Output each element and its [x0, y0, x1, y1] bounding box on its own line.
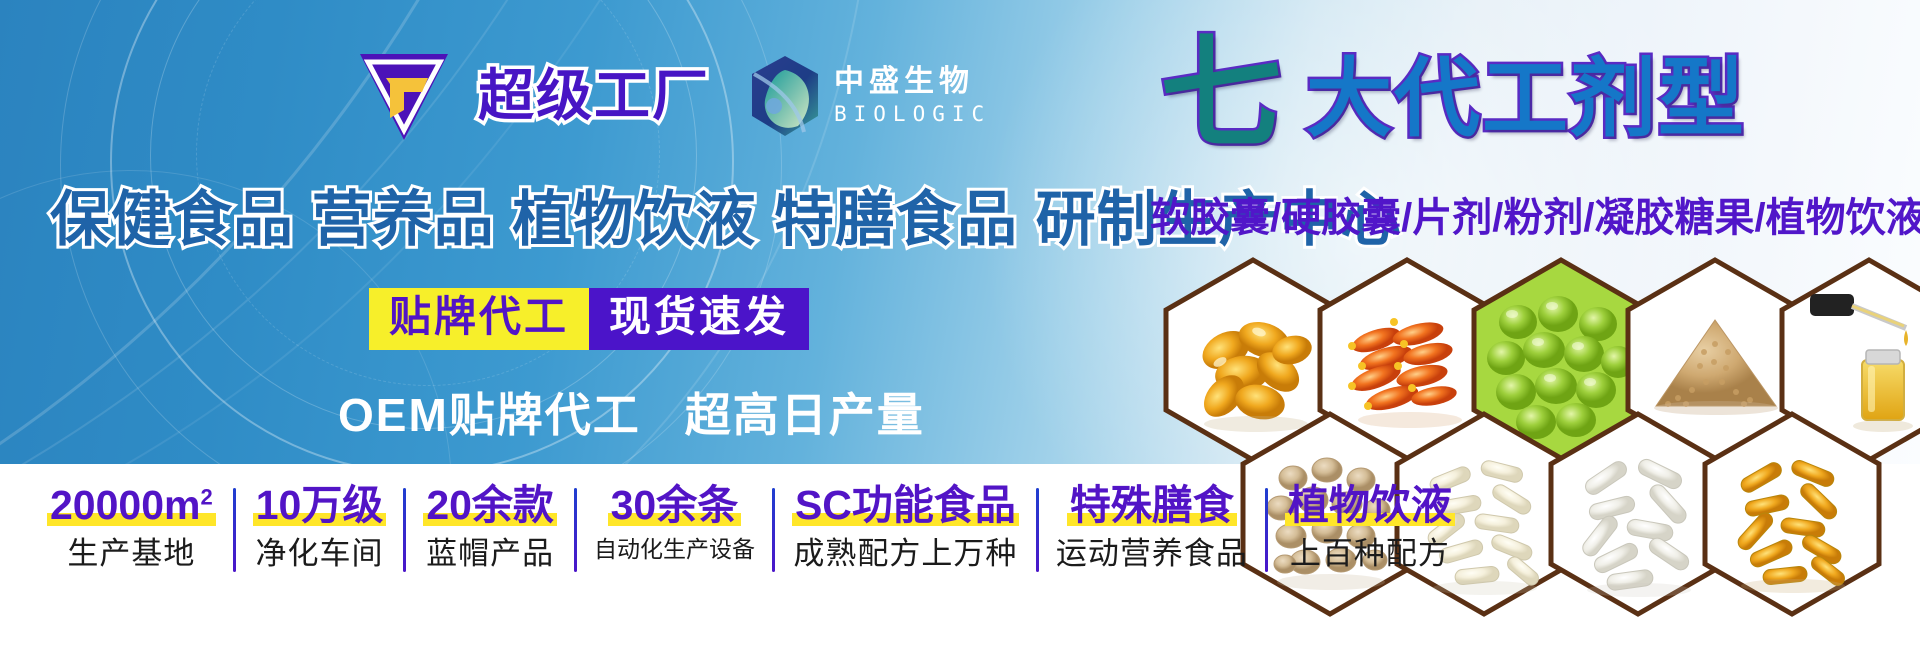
- dosage-forms-count: 七: [1160, 38, 1282, 150]
- stat-number: 10万级: [256, 482, 384, 528]
- stat-item: 10万级 净化车间: [236, 484, 404, 569]
- dosage-forms-list: 软胶囊/硬胶囊/片剂/粉剂/凝胶糖果/植物饮液/爆珠: [1150, 198, 1920, 238]
- stat-number: 特殊膳食: [1070, 482, 1234, 528]
- stat-label: 上百种配方: [1290, 538, 1450, 569]
- stat-number: SC功能食品: [795, 482, 1016, 528]
- stat-label: 蓝帽产品: [426, 538, 554, 569]
- stat-label: 生产基地: [67, 538, 195, 569]
- badge-group: 贴牌代工 现货速发: [369, 288, 809, 350]
- promo-banner: 超级工厂: [0, 0, 1920, 650]
- stat-label: 成熟配方上万种: [793, 538, 1017, 569]
- company-logo: 中盛生物 BIOLOGIC: [746, 54, 991, 138]
- stat-item: 30余条 自动化生产设备: [577, 484, 772, 561]
- super-factory-text: 超级工厂: [478, 68, 710, 124]
- zhongsheng-biologic-mark-icon: [746, 54, 824, 138]
- stat-number: 30余条: [611, 482, 739, 528]
- stat-item: 植物饮液 上百种配方: [1268, 484, 1472, 569]
- badge-fast-shipping[interactable]: 现货速发: [589, 288, 809, 350]
- dosage-forms-headline: 七 大代工剂型: [1160, 38, 1746, 150]
- stat-label: 自动化生产设备: [594, 538, 755, 561]
- stat-label: 净化车间: [256, 538, 384, 569]
- oem-tagline-right: 超高日产量: [685, 389, 925, 441]
- super-factory-shield-icon: [352, 48, 456, 144]
- stat-item: SC功能食品 成熟配方上万种: [775, 484, 1036, 569]
- stat-number: 20000m2: [50, 482, 213, 528]
- brand-row: 超级工厂: [352, 48, 991, 144]
- stat-item: 20000m2 生产基地: [30, 484, 233, 569]
- hex-white-hard-capsules: [1549, 412, 1727, 616]
- company-name-cn: 中盛生物: [834, 67, 991, 97]
- stat-item: 特殊膳食 运动营养食品: [1039, 484, 1265, 569]
- hex-gold-hard-capsules: [1703, 412, 1881, 616]
- badge-oem[interactable]: 贴牌代工: [369, 288, 589, 350]
- stat-label: 运动营养食品: [1056, 538, 1248, 569]
- oem-tagline-left: OEM贴牌代工: [338, 389, 641, 441]
- oem-tagline: OEM贴牌代工超高日产量: [338, 392, 925, 438]
- stat-number: 20余款: [426, 482, 554, 528]
- stats-bar: 20000m2 生产基地 10万级 净化车间 20余款 蓝帽产品 30余条 自动…: [30, 484, 1472, 572]
- dosage-forms-headline-rest: 大代工剂型: [1306, 56, 1746, 142]
- stat-item: 20余款 蓝帽产品: [406, 484, 574, 569]
- company-name-en: BIOLOGIC: [834, 104, 991, 125]
- product-hexagon-grid: [1128, 258, 1920, 650]
- stat-number: 植物饮液: [1288, 482, 1452, 528]
